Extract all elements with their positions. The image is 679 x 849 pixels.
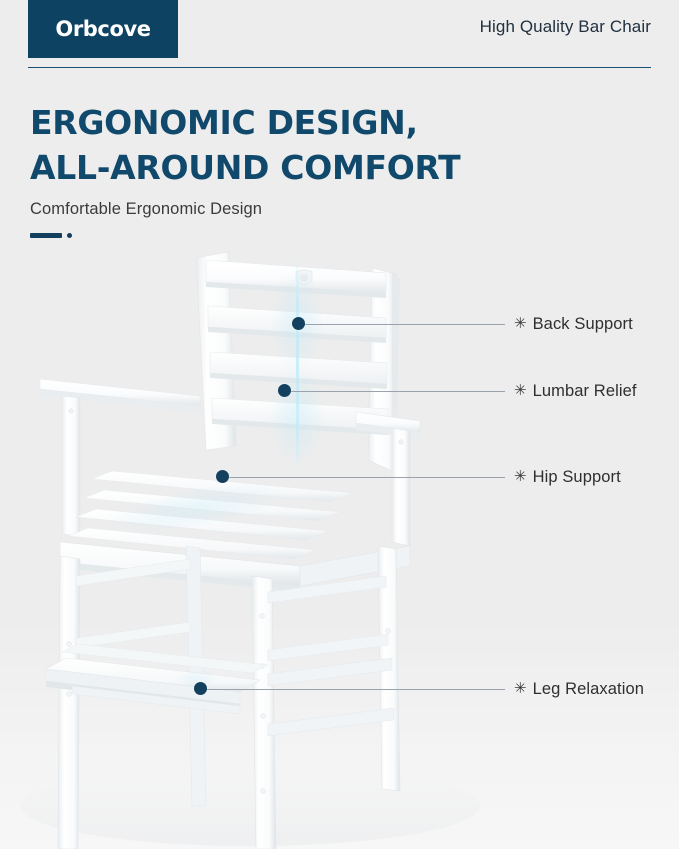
infographic-page: Orbcove High Quality Bar Chair ERGONOMIC… bbox=[0, 0, 679, 849]
callout-label-leg-relaxation: Leg Relaxation bbox=[533, 680, 644, 699]
callout-leg-relaxation: ✳ Leg Relaxation bbox=[200, 679, 644, 699]
callout-dot-leg-relaxation[interactable] bbox=[194, 682, 207, 695]
product-stage: ✳ Back Support ✳ Lumbar Relief ✳ Hip Sup… bbox=[0, 246, 679, 849]
asterisk-icon-hip-support: ✳ bbox=[514, 469, 527, 484]
callout-hip-support: ✳ Hip Support bbox=[222, 467, 621, 487]
subheadline: Comfortable Ergonomic Design bbox=[30, 200, 630, 219]
hero-text-block: ERGONOMIC DESIGN, ALL-AROUND COMFORT Com… bbox=[30, 100, 630, 238]
asterisk-icon-back-support: ✳ bbox=[514, 316, 527, 331]
page-header: Orbcove High Quality Bar Chair bbox=[0, 0, 679, 72]
asterisk-icon-lumbar-relief: ✳ bbox=[514, 383, 527, 398]
callout-label-back-support: Back Support bbox=[533, 315, 633, 334]
headline-line-1: ERGONOMIC DESIGN, bbox=[30, 100, 630, 145]
headline-line-2: ALL-AROUND COMFORT bbox=[30, 145, 630, 190]
callout-label-lumbar-relief: Lumbar Relief bbox=[533, 382, 637, 401]
asterisk-icon-leg-relaxation: ✳ bbox=[514, 681, 527, 696]
callout-label-hip-support: Hip Support bbox=[533, 468, 621, 487]
callout-line-lumbar-relief bbox=[284, 391, 505, 392]
accent-bar bbox=[30, 233, 62, 238]
callout-dot-lumbar-relief[interactable] bbox=[278, 384, 291, 397]
product-title: High Quality Bar Chair bbox=[480, 17, 651, 37]
callout-back-support: ✳ Back Support bbox=[298, 314, 633, 334]
header-divider bbox=[28, 67, 651, 68]
callout-line-leg-relaxation bbox=[200, 689, 505, 690]
callout-dot-back-support[interactable] bbox=[292, 317, 305, 330]
callout-line-back-support bbox=[298, 324, 505, 325]
callout-lumbar-relief: ✳ Lumbar Relief bbox=[284, 381, 637, 401]
brand-logo-text: Orbcove bbox=[55, 17, 150, 41]
bar-chair-illustration bbox=[0, 246, 679, 849]
brand-logo: Orbcove bbox=[28, 0, 178, 58]
callout-line-hip-support bbox=[222, 477, 505, 478]
callout-dot-hip-support[interactable] bbox=[216, 470, 229, 483]
accent-dot bbox=[67, 233, 72, 238]
accent-divider bbox=[30, 233, 630, 238]
